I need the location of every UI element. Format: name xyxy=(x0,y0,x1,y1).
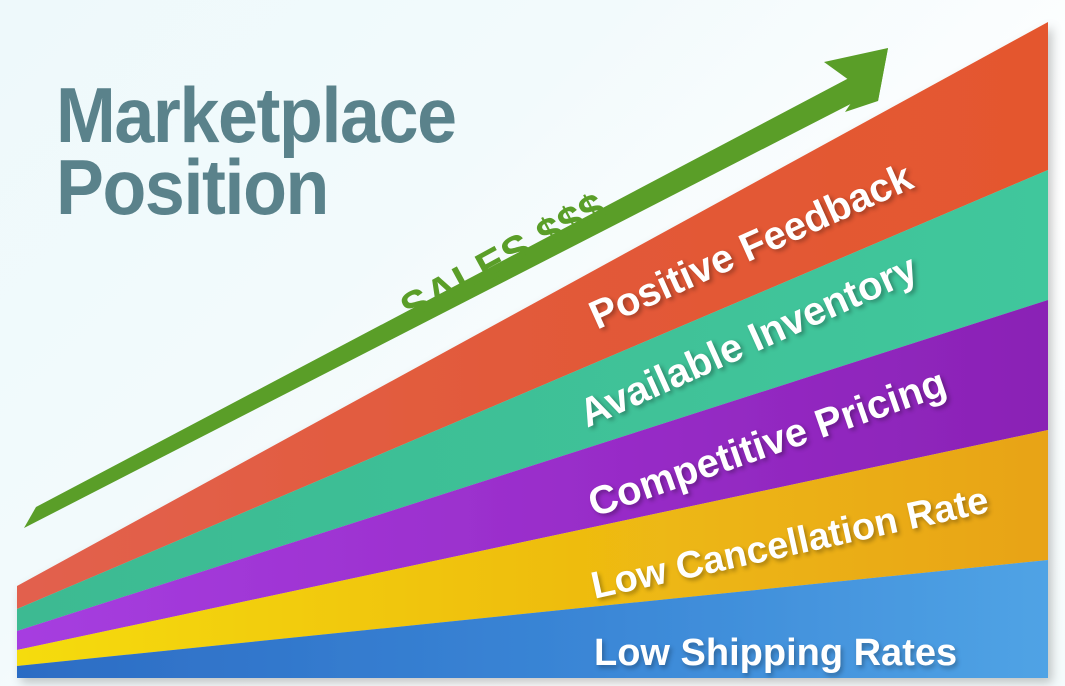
infographic-canvas: Marketplace Position SALES $$$ Positive … xyxy=(0,0,1065,686)
band-label-low-shipping-rates: Low Shipping Rates xyxy=(594,632,957,675)
page-title: Marketplace Position xyxy=(56,80,498,224)
